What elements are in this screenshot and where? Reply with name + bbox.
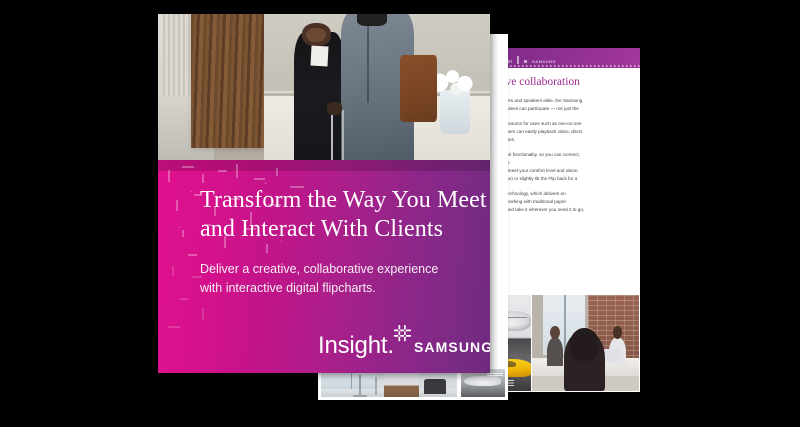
subtitle-line: Deliver a creative, collaborative experi…	[200, 260, 480, 279]
paragraph-line: ore. Users can easily playback video, di…	[494, 128, 632, 136]
photo-flower-pot	[440, 90, 470, 134]
paragraph-line: erful resource for uses such as one-on-o…	[494, 120, 632, 128]
insight-hash-mark-icon	[524, 60, 528, 64]
insight-wordmark: Insight	[318, 334, 387, 358]
back-page-heading: ative collaboration	[494, 76, 632, 89]
header-samsung-wordmark: SAMSUNG	[532, 60, 556, 64]
front-cover-logo-row: Insight .	[318, 334, 490, 358]
paragraph-line: Flip to meet your comfort level and visi…	[494, 167, 632, 175]
back-page-paragraph: splay technology, which delivers an ilar…	[494, 190, 632, 214]
photo-hand	[327, 102, 342, 115]
photo-woman-face	[306, 28, 326, 43]
back-page-header-bar: Insight SAMSUNG	[490, 48, 640, 68]
front-cover-subtitle: Deliver a creative, collaborative experi…	[200, 260, 480, 299]
paragraph-line: easel and take it wherever you need it t…	[494, 206, 632, 214]
photo-stand	[359, 375, 361, 395]
photo-luggage-handle	[342, 110, 344, 160]
photo-leather-bag	[400, 55, 437, 122]
screenshot-canvas: Insight SAMSUNG ative collaboration memb…	[0, 0, 800, 427]
photo-chair	[424, 379, 446, 394]
photo-caption-lines	[487, 373, 503, 376]
photo-person	[547, 337, 563, 366]
front-cover-title: Transform the Way You Meet and Interact …	[200, 186, 480, 245]
back-page-paragraph: members and speakers alike, the Samsung …	[494, 97, 632, 113]
title-line: and Interact With Clients	[200, 215, 480, 244]
paragraph-line: members and speakers alike, the Samsung	[494, 97, 632, 105]
front-cover-hero-photo	[158, 14, 490, 160]
photo-wood-panel	[191, 14, 264, 148]
paragraph-line: ndscape) or slightly tilt the Flip back …	[494, 175, 632, 183]
insight-logo: Insight .	[318, 334, 394, 358]
insight-hash-mark-icon	[394, 325, 411, 342]
brochure-back-page[interactable]: Insight SAMSUNG ative collaboration memb…	[490, 48, 640, 392]
photo-car-sketch-shape	[464, 376, 501, 386]
paragraph-line: : Control functionality, so you can conn…	[494, 151, 632, 159]
paragraph-line: l device.	[494, 159, 632, 167]
photo-luggage-handle	[331, 107, 333, 160]
paragraph-line: ilar to working with traditional paper.	[494, 198, 632, 206]
insight-period: .	[387, 334, 394, 358]
title-line: Transform the Way You Meet	[200, 186, 480, 215]
photo-foreground-person	[564, 331, 605, 391]
photo-woman-shirt	[310, 46, 328, 67]
front-cover-text-block: Transform the Way You Meet and Interact …	[200, 186, 480, 298]
back-page-photo-row	[490, 294, 640, 392]
back-page-paragraph: erful resource for uses such as one-on-o…	[494, 120, 632, 144]
back-page-paragraph: : Control functionality, so you can conn…	[494, 151, 632, 183]
photo-man-head	[357, 14, 387, 26]
brochure-front-cover[interactable]: Transform the Way You Meet and Interact …	[158, 14, 490, 373]
subtitle-line: with interactive digital flipcharts.	[200, 279, 480, 298]
photo-stand	[375, 377, 377, 395]
header-dotted-rule	[490, 65, 640, 67]
paragraph-line: strategies.	[494, 136, 632, 144]
back-page-body: ative collaboration members and speakers…	[490, 68, 640, 221]
photo-team-meeting	[532, 294, 640, 392]
vertical-rule-icon	[517, 56, 519, 64]
paragraph-line: splay technology, which delivers an	[494, 190, 632, 198]
paragraph-line: g attendees can participate — not just t…	[494, 105, 632, 113]
photo-person	[384, 369, 419, 397]
photo-flowers	[430, 69, 476, 95]
samsung-logo: SAMSUNG	[414, 340, 490, 358]
